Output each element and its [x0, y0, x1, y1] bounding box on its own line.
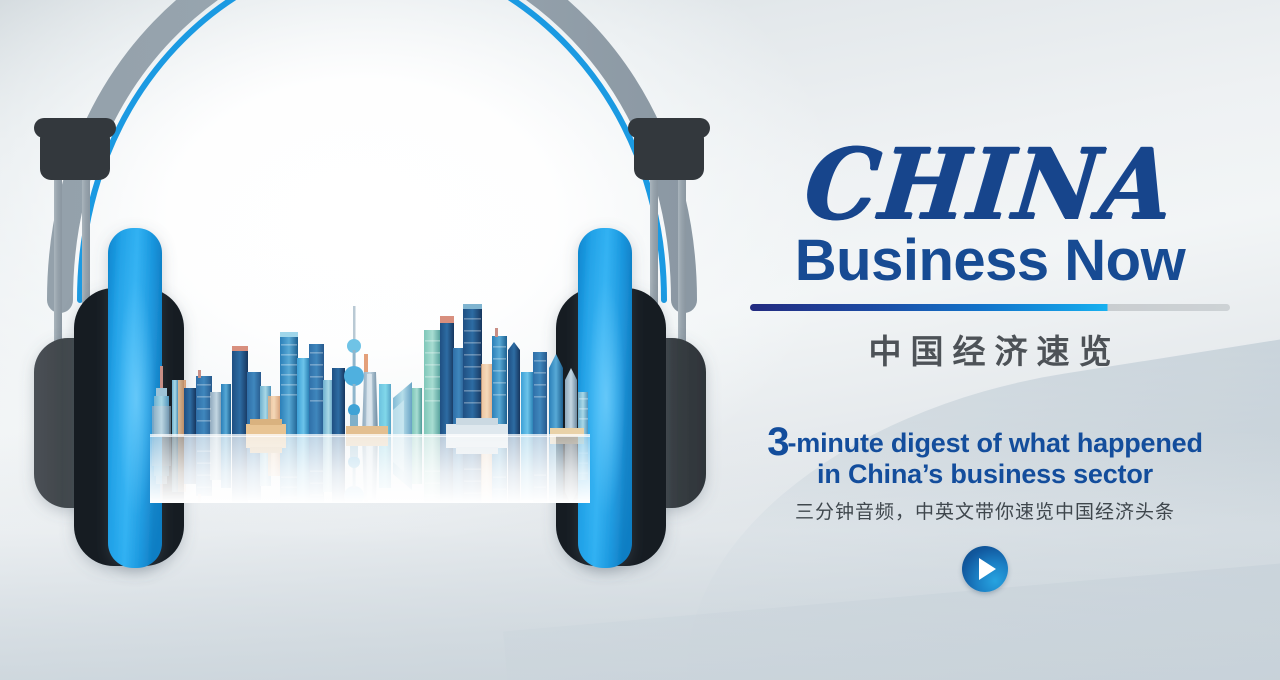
brand-lockup: CHINA Business Now 中国经济速览 [745, 118, 1235, 373]
brand-chinese-title: 中国经济速览 [745, 325, 1235, 373]
tagline-chinese: 三分钟音频，中英文带你速览中国经济头条 [735, 497, 1235, 524]
wordmark-china-wrap: CHINA [745, 118, 1235, 228]
play-button[interactable] [962, 546, 1008, 592]
brand-divider-bar [750, 304, 1230, 311]
tagline-lead-number: 3 [767, 420, 787, 464]
play-icon [979, 558, 996, 580]
tagline-english: 3-minute digest of what happened in Chin… [735, 428, 1235, 490]
tagline-line2: in China’s business sector [735, 459, 1235, 490]
tagline-line1-rest: -minute digest of what happened [787, 428, 1202, 458]
tagline-block: 3-minute digest of what happened in Chin… [735, 428, 1235, 524]
city-skyline-illustration [150, 288, 590, 503]
slide-canvas: CHINA Business Now 中国经济速览 3-minute diges… [0, 0, 1280, 680]
wordmark-china: CHINA [801, 138, 1179, 231]
